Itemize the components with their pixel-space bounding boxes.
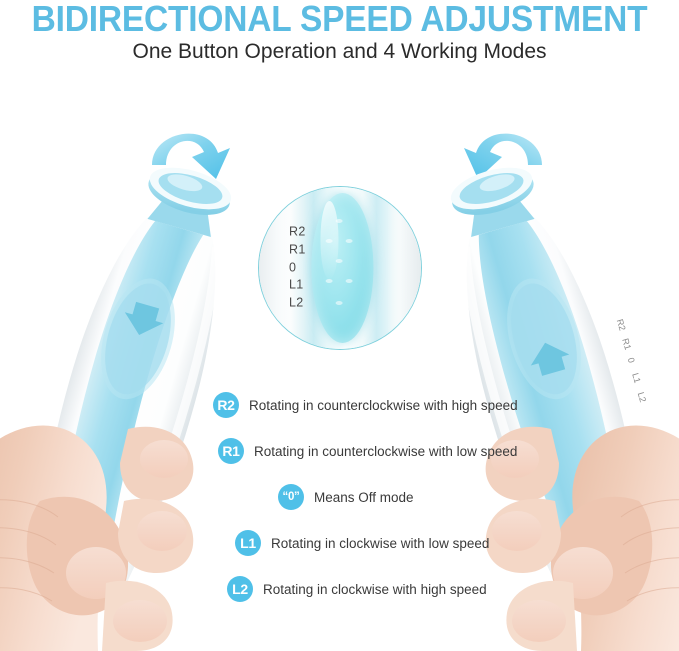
magnified-shadow-right bbox=[387, 186, 421, 350]
magnified-scale-labels: R2 R1 0 L1 L2 bbox=[289, 225, 306, 312]
legend-row: R2 Rotating in counterclockwise with hig… bbox=[0, 382, 679, 428]
legend-row: L2 Rotating in clockwise with high speed bbox=[0, 566, 679, 612]
device-scale-r2: R2 bbox=[615, 318, 628, 332]
scale-label-r1: R1 bbox=[289, 242, 306, 258]
page-title: BIDIRECTIONAL SPEED ADJUSTMENT bbox=[24, 0, 655, 40]
legend-row: R1 Rotating in counterclockwise with low… bbox=[0, 428, 679, 474]
legend-row: “0” Means Off mode bbox=[0, 474, 679, 520]
mode-legend: R2 Rotating in counterclockwise with hig… bbox=[0, 382, 679, 612]
mode-badge-l2: L2 bbox=[227, 576, 253, 602]
magnified-switch-detail: R2 R1 0 L1 L2 bbox=[258, 186, 422, 350]
scale-label-l2: L2 bbox=[289, 296, 306, 312]
legend-row: L1 Rotating in clockwise with low speed bbox=[0, 520, 679, 566]
scale-label-l1: L1 bbox=[289, 278, 306, 294]
page-subtitle: One Button Operation and 4 Working Modes bbox=[0, 40, 679, 64]
magnified-grip-dots bbox=[322, 213, 362, 323]
mode-description-l2: Rotating in clockwise with high speed bbox=[263, 582, 487, 597]
mode-badge-off: “0” bbox=[278, 484, 304, 510]
mode-badge-r2: R2 bbox=[213, 392, 239, 418]
scale-label-0: 0 bbox=[289, 260, 306, 276]
magnified-shadow-left bbox=[259, 186, 289, 350]
mode-badge-r1: R1 bbox=[218, 438, 244, 464]
mode-description-off: Means Off mode bbox=[314, 490, 414, 505]
mode-description-l1: Rotating in clockwise with low speed bbox=[271, 536, 489, 551]
mode-badge-l1: L1 bbox=[235, 530, 261, 556]
mode-description-r1: Rotating in counterclockwise with low sp… bbox=[254, 444, 517, 459]
scale-label-r2: R2 bbox=[289, 225, 306, 241]
product-infographic: BIDIRECTIONAL SPEED ADJUSTMENT One Butto… bbox=[0, 0, 679, 651]
mode-description-r2: Rotating in counterclockwise with high s… bbox=[249, 398, 518, 413]
device-scale-r1: R1 bbox=[620, 337, 633, 351]
